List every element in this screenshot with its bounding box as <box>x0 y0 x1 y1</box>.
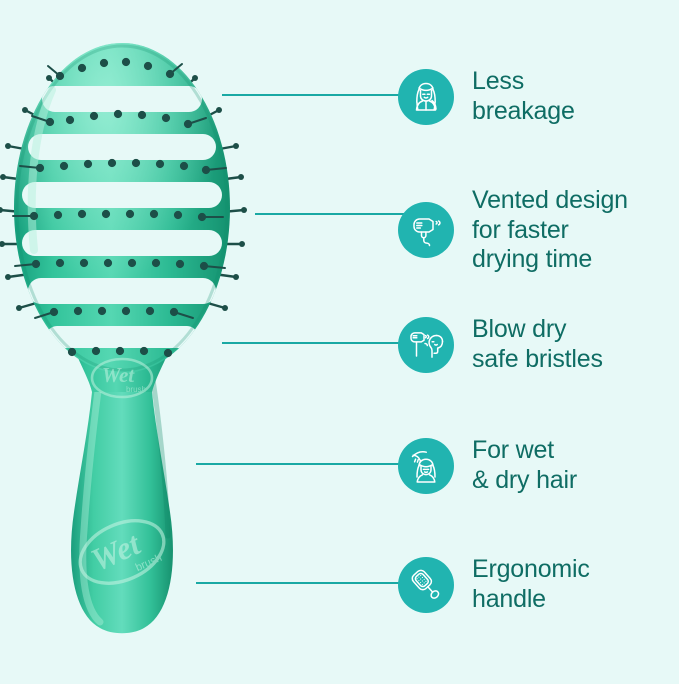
connector-line-3 <box>222 342 404 344</box>
feature-label-wet-and-dry: For wet & dry hair <box>472 436 577 495</box>
dryer-blowing-face-icon <box>398 317 454 373</box>
feature-item-vented-design[interactable]: Vented design for faster drying time <box>398 186 628 275</box>
feature-label-blow-dry-safe: Blow dry safe bristles <box>472 315 603 374</box>
feature-item-ergonomic-handle[interactable]: Ergonomic handle <box>398 555 590 614</box>
connector-line-1 <box>222 94 404 96</box>
feature-label-vented-design: Vented design for faster drying time <box>472 186 628 275</box>
hair-dryer-icon <box>398 202 454 258</box>
feature-item-wet-and-dry[interactable]: For wet & dry hair <box>398 436 577 495</box>
infographic-canvas: Wet brush Wet brush <box>0 0 679 679</box>
shower-head-woman-icon <box>398 438 454 494</box>
feature-item-less-breakage[interactable]: Less breakage <box>398 67 575 126</box>
feature-label-ergonomic-handle: Ergonomic handle <box>472 555 590 614</box>
paddle-brush-icon <box>398 557 454 613</box>
woman-hair-strand-icon <box>398 69 454 125</box>
connector-line-5 <box>196 582 404 584</box>
connector-line-2 <box>255 213 404 215</box>
connector-line-4 <box>196 463 404 465</box>
feature-label-less-breakage: Less breakage <box>472 67 575 126</box>
feature-item-blow-dry-safe[interactable]: Blow dry safe bristles <box>398 315 603 374</box>
